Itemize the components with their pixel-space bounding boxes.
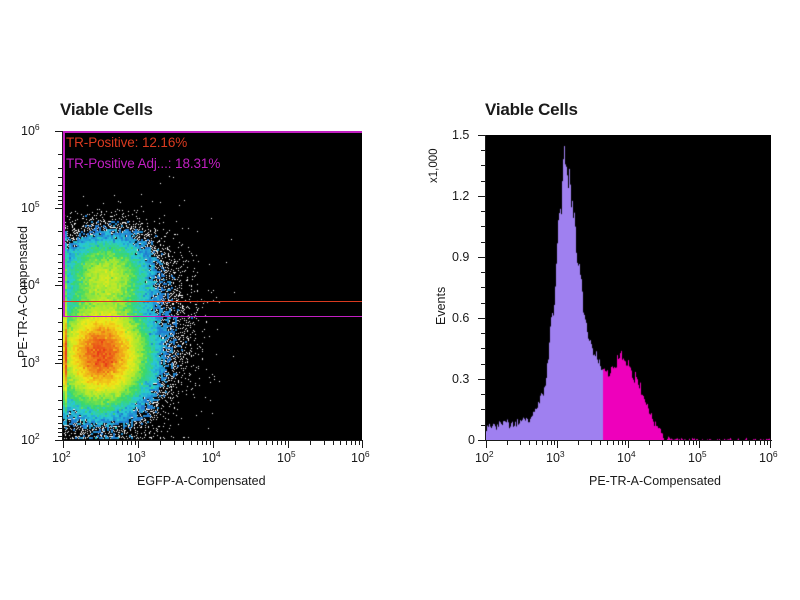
gate-region-left-border xyxy=(63,131,65,316)
histogram-x-tick-label-1e6: 106 xyxy=(759,451,778,465)
scatter-x-tick-label-1e6: 106 xyxy=(351,451,370,465)
scatter-x-tick-label-1e5: 105 xyxy=(277,451,296,465)
flow-cytometry-figure: Viable Cells TR-Positive: 12.16% TR-Posi… xyxy=(0,0,800,600)
scatter-y-tick-label-1e2: 102 xyxy=(21,433,40,447)
histogram-y-tick-label-0-3: 0.3 xyxy=(452,372,469,386)
gate-label-tr-positive: TR-Positive: 12.16% xyxy=(66,135,187,150)
histogram-x-tick-label-1e4: 104 xyxy=(617,451,636,465)
scatter-y-tick-label-1e6: 106 xyxy=(21,124,40,138)
histogram-x-tick-label-1e3: 103 xyxy=(546,451,565,465)
histogram-x-tick-label-1e2: 102 xyxy=(475,451,494,465)
histogram-y-tick-label-1-5: 1.5 xyxy=(452,128,469,142)
scatter-x-axis-title: EGFP-A-Compensated xyxy=(137,474,266,488)
histogram-y-tick-label-0: 0 xyxy=(468,433,475,447)
histogram-plot-area[interactable] xyxy=(486,135,771,440)
density-scatter-canvas xyxy=(63,131,362,440)
scatter-x-tick-label-1e2: 102 xyxy=(52,451,71,465)
histogram-y-tick-label-0-6: 0.6 xyxy=(452,311,469,325)
scatter-panel: Viable Cells TR-Positive: 12.16% TR-Posi… xyxy=(0,0,400,600)
gate-line-tr-positive[interactable] xyxy=(63,301,362,302)
histogram-y-axis-title: Events xyxy=(434,287,448,325)
histogram-x-tick-label-1e5: 105 xyxy=(688,451,707,465)
scatter-y-axis-title: PE-TR-A-Compensated xyxy=(16,226,30,358)
histogram-x-axis-title: PE-TR-A-Compensated xyxy=(589,474,721,488)
histogram-canvas xyxy=(486,135,771,440)
histogram-panel-title: Viable Cells xyxy=(485,100,578,120)
scatter-panel-title: Viable Cells xyxy=(60,100,153,120)
gate-label-tr-positive-adj: TR-Positive Adj...: 18.31% xyxy=(66,156,220,171)
histogram-y-axis-multiplier: x1,000 xyxy=(428,148,440,183)
histogram-panel: Viable Cells xyxy=(400,0,800,600)
gate-line-tr-positive-adj[interactable] xyxy=(63,316,362,317)
histogram-y-tick-label-1-2: 1.2 xyxy=(452,189,469,203)
gate-region-top-border xyxy=(63,131,362,133)
scatter-y-tick-label-1e3: 103 xyxy=(21,356,40,370)
histogram-y-tick-label-0-9: 0.9 xyxy=(452,250,469,264)
scatter-plot-area[interactable]: TR-Positive: 12.16% TR-Positive Adj...: … xyxy=(63,131,362,440)
scatter-x-tick-label-1e4: 104 xyxy=(202,451,221,465)
scatter-x-tick-label-1e3: 103 xyxy=(127,451,146,465)
scatter-y-tick-label-1e5: 105 xyxy=(21,201,40,215)
